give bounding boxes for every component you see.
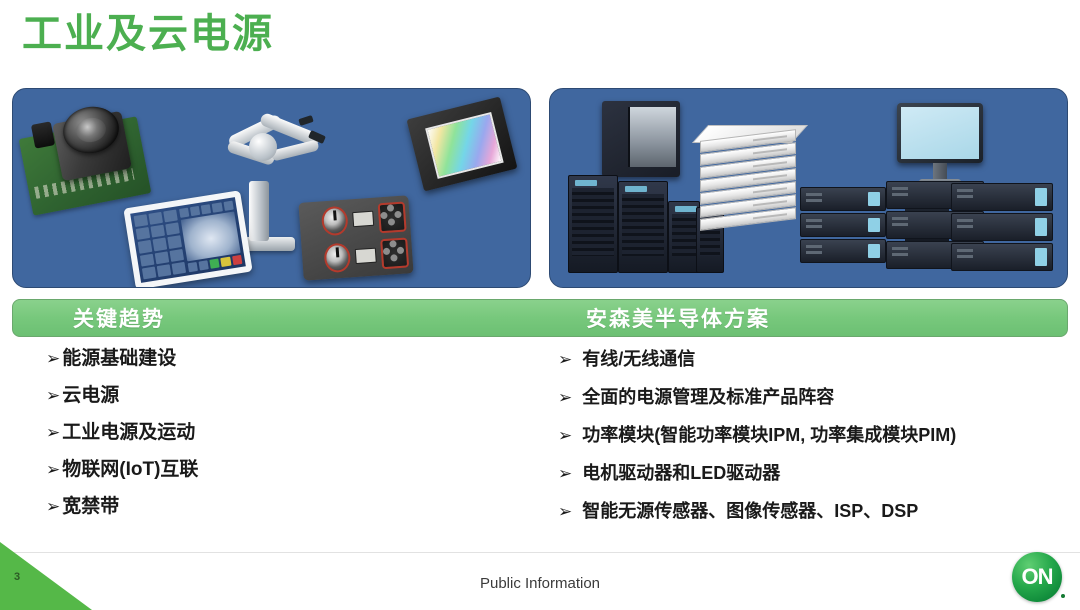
onsemi-logo-dot (1061, 594, 1065, 598)
tablet-panel-right (179, 201, 243, 273)
rack-unit-icon (800, 239, 886, 263)
list-item: ➢ 能源基础建设 (46, 348, 540, 370)
bullet-arrow-icon: ➢ (558, 387, 572, 409)
tablet-keypad (134, 210, 186, 280)
list-item-label: 宽禁带 (62, 496, 119, 518)
list-item-label: 有线/无线通信 (582, 348, 695, 370)
list-item-label: 工业电源及运动 (62, 422, 195, 444)
list-item-label: 全面的电源管理及标准产品阵容 (582, 386, 834, 408)
rack-unit-icon (800, 213, 886, 237)
footer-note: Public Information (0, 575, 1080, 592)
list-item: ➢ 功率模块(智能功率模块IPM, 功率集成模块PIM) (558, 424, 1080, 447)
bullet-arrow-icon: ➢ (558, 501, 572, 523)
bullet-arrow-icon: ➢ (46, 385, 60, 407)
display-icon (355, 247, 377, 263)
trends-list: ➢ 能源基础建设 ➢ 云电源 ➢ 工业电源及运动 ➢ 物联网(IoT)互联 ➢ … (0, 348, 540, 543)
rack-unit-icon (800, 187, 886, 211)
list-item-label: 物联网(IoT)互联 (62, 459, 198, 481)
bullet-arrow-icon: ➢ (46, 459, 60, 481)
content-columns: ➢ 能源基础建设 ➢ 云电源 ➢ 工业电源及运动 ➢ 物联网(IoT)互联 ➢ … (0, 348, 1080, 543)
bullet-arrow-icon: ➢ (558, 425, 572, 447)
bullet-arrow-icon: ➢ (46, 348, 60, 370)
robot-column-icon (249, 181, 269, 241)
onsemi-logo-text: ON (1022, 564, 1053, 590)
solutions-list: ➢ 有线/无线通信 ➢ 全面的电源管理及标准产品阵容 ➢ 功率模块(智能功率模块… (540, 348, 1080, 543)
bullet-arrow-icon: ➢ (558, 349, 572, 371)
list-item: ➢ 有线/无线通信 (558, 348, 1080, 371)
bullet-arrow-icon: ➢ (46, 496, 60, 518)
rack-unit-icon (951, 213, 1053, 241)
list-item: ➢ 云电源 (46, 385, 540, 407)
page-title: 工业及云电源 (22, 6, 274, 62)
list-item-label: 云电源 (62, 385, 119, 407)
robot-hub-icon (249, 133, 277, 161)
tablet-screen (130, 197, 246, 283)
footer-divider (0, 552, 1080, 553)
knob-icon (323, 242, 351, 273)
industrial-tablet-icon (123, 190, 252, 288)
onsemi-logo-circle: ON (1012, 552, 1062, 602)
server-rack-icon (568, 175, 618, 273)
onsemi-logo: ON (1012, 552, 1062, 602)
rack-unit-icon (951, 243, 1053, 271)
list-item: ➢ 智能无源传感器、图像传感器、ISP、DSP (558, 500, 1080, 523)
section-header-bar: 关键趋势 安森美半导体方案 (12, 299, 1068, 337)
list-item-label: 电机驱动器和LED驱动器 (582, 462, 780, 484)
display-icon (352, 211, 374, 227)
slide: 工业及云电源 (0, 0, 1080, 610)
server-cabinet-icon (602, 101, 680, 177)
bullet-arrow-icon: ➢ (558, 463, 572, 485)
robot-tool-icon (298, 115, 313, 126)
image-sensor-icon (406, 96, 517, 191)
list-item: ➢ 工业电源及运动 (46, 422, 540, 444)
control-panel-icon (298, 195, 413, 280)
monitor-icon (897, 103, 983, 163)
rack-unit-icon (951, 183, 1053, 211)
capacitor-icon (31, 121, 55, 148)
panel-industrial-images (12, 88, 531, 288)
knob-icon (321, 206, 349, 237)
bullet-arrow-icon: ➢ (46, 422, 60, 444)
list-item-label: 功率模块(智能功率模块IPM, 功率集成模块PIM) (582, 424, 956, 446)
section-header-solutions: 安森美半导体方案 (586, 303, 770, 333)
server-rack-icon (618, 181, 668, 273)
list-item-label: 能源基础建设 (62, 348, 176, 370)
button-pad-icon (380, 238, 409, 270)
blade-server-stack-icon (700, 129, 796, 227)
image-panels (12, 88, 1068, 288)
list-item: ➢ 宽禁带 (46, 496, 540, 518)
section-header-trends: 关键趋势 (73, 303, 165, 333)
button-pad-icon (378, 201, 407, 233)
list-item-label: 智能无源传感器、图像传感器、ISP、DSP (582, 500, 918, 522)
list-item: ➢ 物联网(IoT)互联 (46, 459, 540, 481)
list-item: ➢ 全面的电源管理及标准产品阵容 (558, 386, 1080, 409)
panel-cloud-images (549, 88, 1068, 288)
robot-arm-icon (270, 139, 319, 161)
list-item: ➢ 电机驱动器和LED驱动器 (558, 462, 1080, 485)
